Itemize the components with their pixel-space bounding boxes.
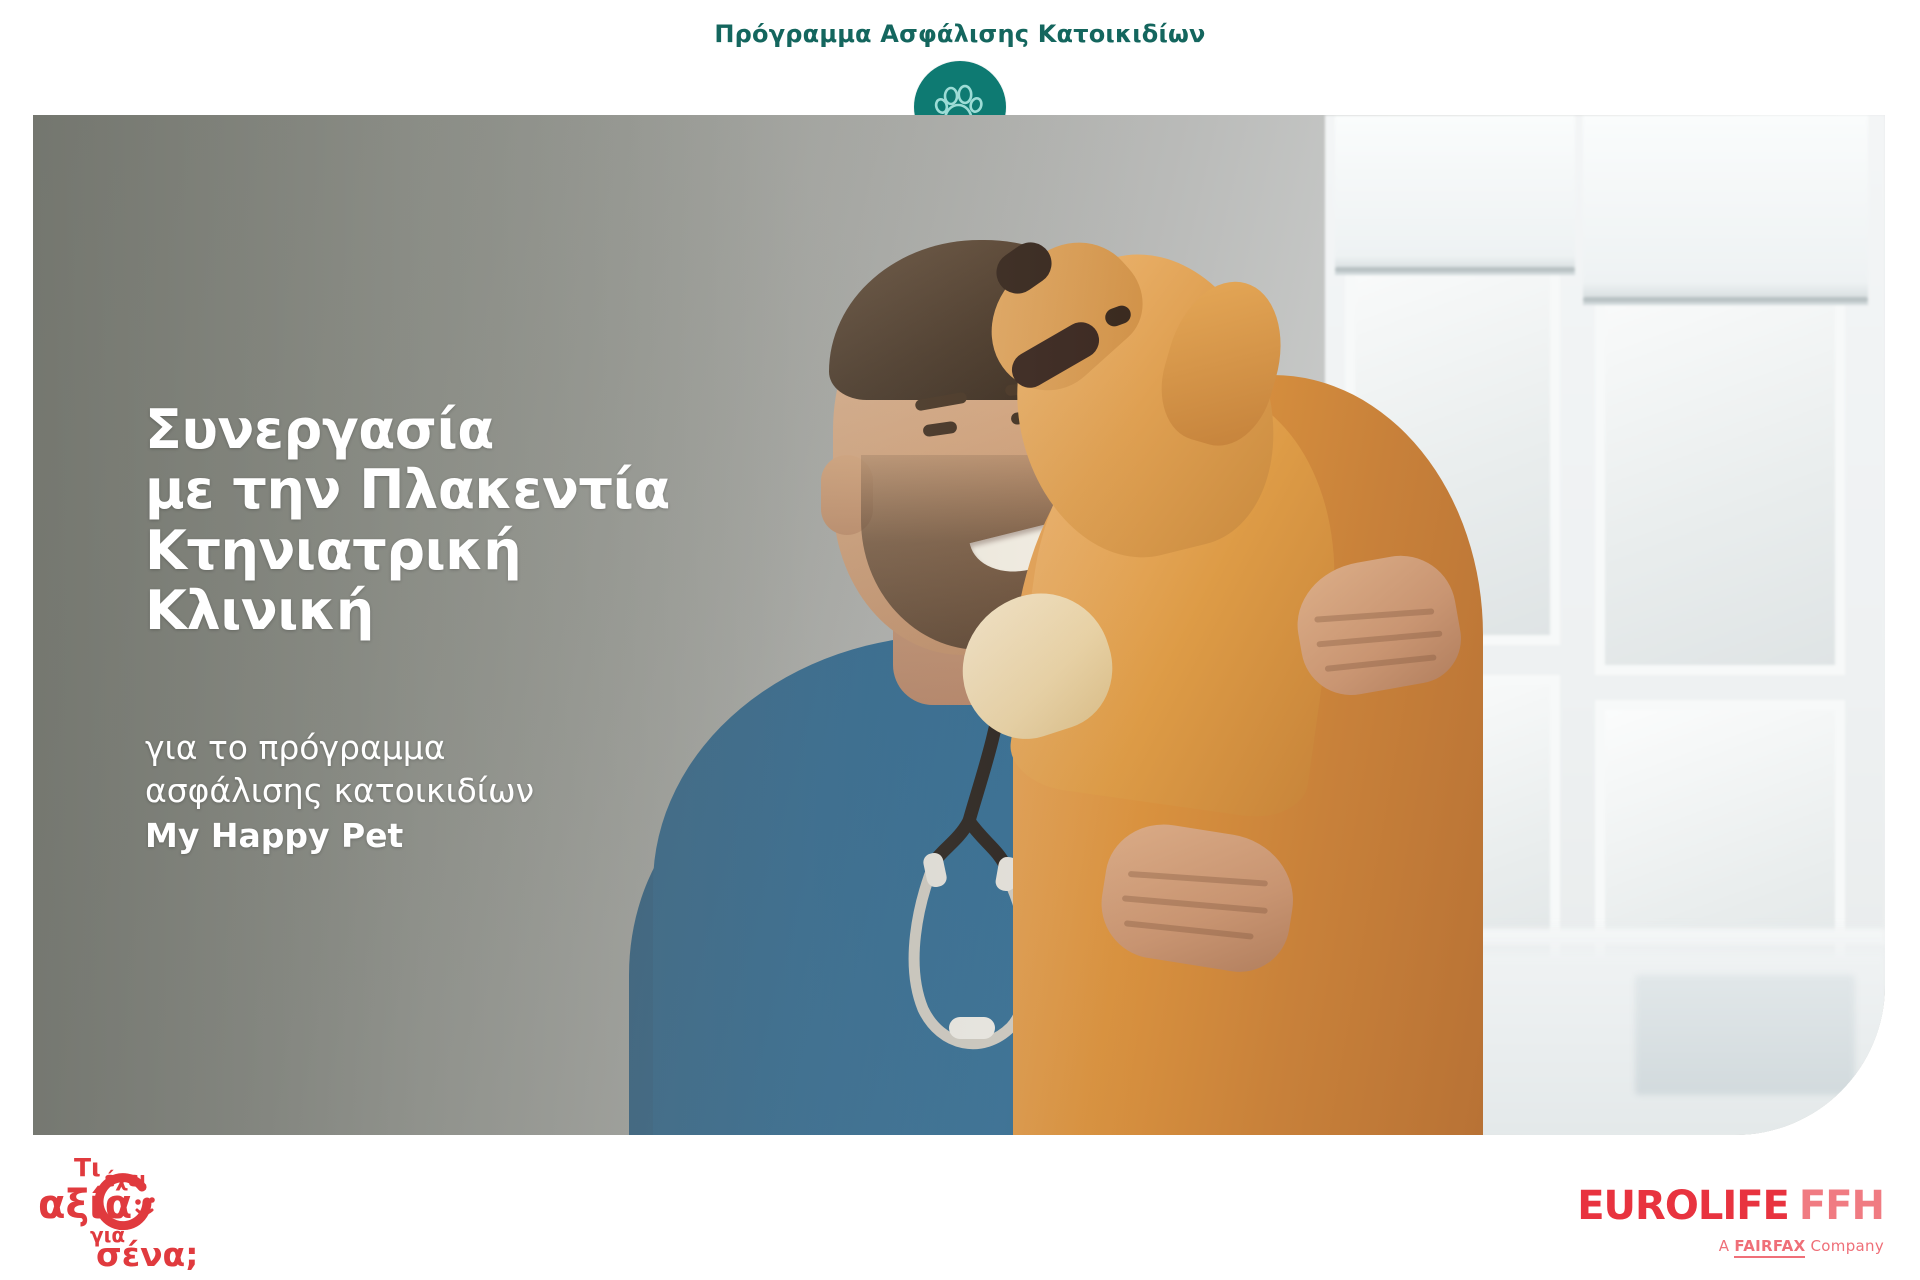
- finger-line: [1316, 630, 1442, 647]
- window-blind: [1583, 115, 1868, 305]
- campaign-logo[interactable]: Τι έχει αξία για σένα;: [30, 1150, 220, 1270]
- window-pane: [1595, 255, 1845, 675]
- hero-card: Συνεργασία με την Πλακεντία Κτηνιατρική …: [33, 115, 1885, 1135]
- company-logo-wordmark: EUROLIFEFFH: [1577, 1186, 1884, 1226]
- finger-line: [1325, 654, 1437, 672]
- page-title: Πρόγραμμα Ασφάλισης Κατοικιδίων: [0, 20, 1920, 48]
- company-logo-brand: EUROLIFE: [1577, 1183, 1789, 1229]
- campaign-logo-line1: Τι: [74, 1153, 101, 1182]
- pet-insurance-banner: Πρόγραμμα Ασφάλισης Κατοικιδίων: [0, 0, 1920, 1280]
- blind-bar: [1583, 297, 1868, 302]
- company-logo-tagline: A FAIRFAX Company: [1577, 1237, 1884, 1255]
- hero-subline-text: για το πρόγραμμα ασφάλισης κατοικιδίων: [145, 728, 534, 810]
- tagline-fairfax: FAIRFAX: [1734, 1237, 1805, 1258]
- clinic-cabinet: [1635, 975, 1855, 1095]
- finger-line: [1128, 871, 1268, 887]
- finger-line: [1314, 608, 1434, 622]
- company-logo-suffix: FFH: [1799, 1183, 1884, 1229]
- company-logo[interactable]: EUROLIFEFFH A FAIRFAX Company: [1577, 1186, 1884, 1255]
- tagline-suffix: Company: [1805, 1237, 1884, 1255]
- hero-subline: για το πρόγραμμα ασφάλισης κατοικιδίων M…: [145, 684, 785, 900]
- hero-copy: Συνεργασία με την Πλακεντία Κτηνιατρική …: [145, 400, 785, 900]
- hero-product-name: My Happy Pet: [145, 815, 785, 858]
- tagline-prefix: A: [1719, 1237, 1735, 1255]
- campaign-logo-line5: σένα;: [96, 1235, 198, 1270]
- hero-headline: Συνεργασία με την Πλακεντία Κτηνιατρική …: [145, 400, 785, 642]
